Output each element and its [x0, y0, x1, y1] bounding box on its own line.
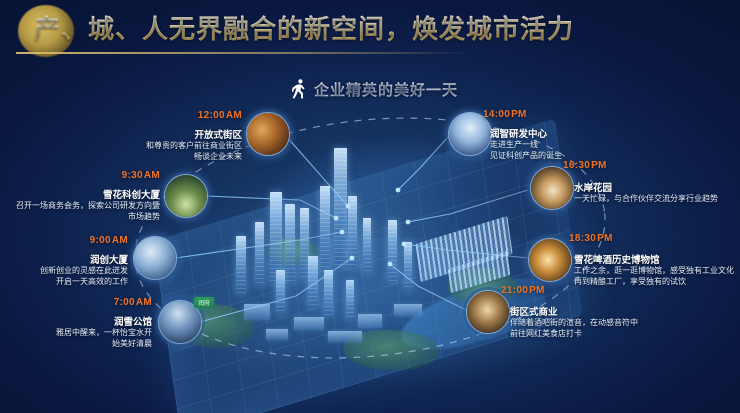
- place-desc-line2: 市场趋势: [0, 211, 160, 222]
- city-tower: [334, 148, 347, 266]
- low-rise-building: [266, 329, 288, 340]
- city-tower: [276, 270, 285, 314]
- place-name: 开放式街区: [110, 127, 242, 141]
- time-value: 9:00: [90, 235, 111, 246]
- time-value: 21:00: [501, 285, 528, 296]
- place-desc-line1: 雅居中醒来，一杯怡宝水开: [0, 327, 152, 338]
- place-desc-line2: 开启一天高效的工作: [0, 276, 128, 287]
- time-value: 12:00: [198, 110, 225, 121]
- title-bar: 产、城、人无界融合的新空间，焕发城市活力: [0, 0, 740, 56]
- time-label: 7:00AM: [36, 292, 152, 309]
- city-tower: [285, 204, 295, 282]
- low-rise-building: [294, 317, 324, 330]
- city-tower: [404, 242, 412, 290]
- time-label: 14:00PM: [482, 104, 612, 121]
- city-tower: [348, 196, 357, 268]
- time-label: 21:00PM: [500, 280, 630, 297]
- thumbnail-street-block[interactable]: [246, 112, 290, 156]
- thumbnail-office-tower[interactable]: [133, 236, 177, 280]
- time-value: 9:30: [122, 170, 143, 181]
- meridiem: AM: [136, 297, 152, 308]
- thumbnail-coffee-cup[interactable]: [530, 166, 574, 210]
- time-label: 9:30AM: [40, 165, 160, 182]
- time-label: 16:30PM: [562, 155, 692, 172]
- walking-person-icon: [292, 79, 307, 99]
- meridiem: PM: [597, 233, 613, 244]
- city-tower: [363, 218, 371, 274]
- subtitle: 企业精英的美好一天: [292, 78, 458, 100]
- place-name: 雪花科创大厦: [30, 187, 160, 201]
- time-value: 16:30: [563, 160, 590, 171]
- low-rise-building: [328, 331, 362, 342]
- time-label: 18:30PM: [568, 228, 698, 245]
- time-value: 14:00: [483, 109, 510, 120]
- thumbnail-conference-building[interactable]: [164, 174, 208, 218]
- meridiem: PM: [529, 285, 545, 296]
- city-tower: [308, 256, 318, 308]
- place-name: 水岸花园: [574, 180, 724, 194]
- place-desc-line1: 走进生产一线: [490, 139, 690, 150]
- place-desc-line1: 创新创业的灵感在此迸发: [0, 265, 128, 276]
- place-name: 润雪公馆: [26, 314, 152, 328]
- low-rise-building: [358, 314, 382, 328]
- place-name: 润智研发中心: [490, 126, 640, 140]
- page-title: 产、城、人无界融合的新空间，焕发城市活力: [34, 12, 574, 46]
- place-desc-line1: 工作之余，逛一逛博物馆，感受独有工业文化: [574, 265, 740, 276]
- meridiem: AM: [226, 110, 242, 121]
- city-tower: [324, 270, 333, 316]
- time-value: 7:00: [114, 297, 135, 308]
- city-tower: [388, 220, 397, 282]
- time-value: 18:30: [569, 233, 596, 244]
- project-badge: 润府: [194, 297, 214, 308]
- meridiem: PM: [591, 160, 607, 171]
- place-name: 润创大厦: [0, 252, 128, 266]
- low-rise-building: [244, 304, 270, 320]
- city-tower: [236, 236, 246, 294]
- place-desc-line1: 一天忙碌，与合作伙伴交流分享行业趋势: [574, 193, 740, 204]
- place-desc-line1: 和尊贵的客户前往商业街区: [52, 140, 242, 151]
- meridiem: AM: [112, 235, 128, 246]
- time-label: 9:00AM: [10, 230, 128, 247]
- place-desc-line2: 前往网红美食店打卡: [510, 328, 710, 339]
- subtitle-text: 企业精英的美好一天: [314, 79, 458, 100]
- place-desc-line1: 伴随着酒吧街的渲音，在动感音符中: [510, 317, 710, 328]
- city-tower: [255, 222, 264, 286]
- place-desc-line1: 召开一场商务会务，探索公司研发方向暨: [0, 200, 160, 211]
- title-underline: [16, 52, 471, 54]
- city-tower: [346, 280, 354, 320]
- poster-stage: 产、城、人无界融合的新空间，焕发城市活力 企业精英的美好一天: [0, 0, 740, 413]
- low-rise-building: [394, 304, 422, 316]
- meridiem: PM: [511, 109, 527, 120]
- meridiem: AM: [144, 170, 160, 181]
- place-name: 雪花啤酒历史博物馆: [574, 252, 734, 266]
- place-name: 街区式商业: [510, 304, 670, 318]
- place-desc-line2: 始美好清晨: [0, 338, 152, 349]
- time-label: 12:00AM: [120, 105, 242, 122]
- place-desc-line2: 畅谈企业未来: [52, 151, 242, 162]
- thumbnail-museum[interactable]: [528, 238, 572, 282]
- city-tower: [320, 186, 330, 270]
